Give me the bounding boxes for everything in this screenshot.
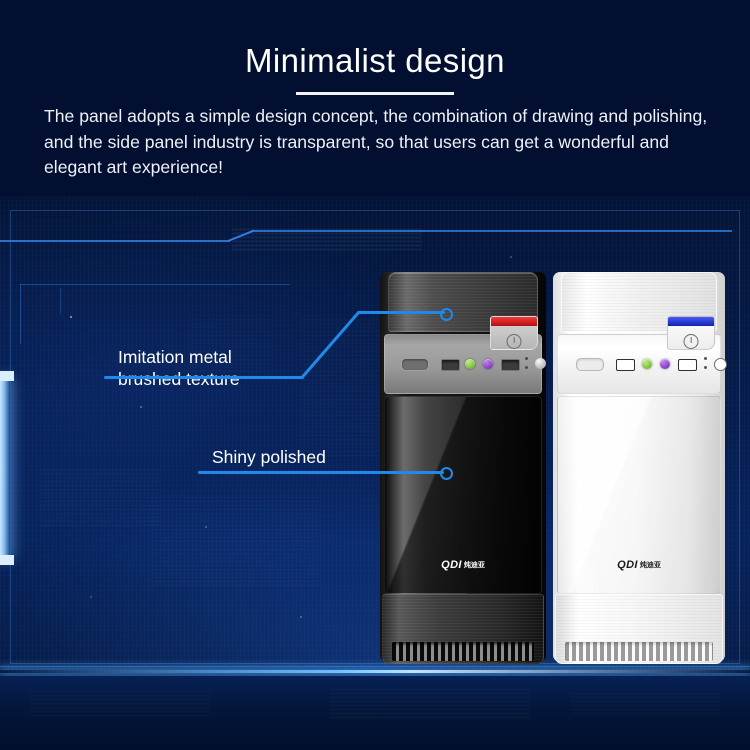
- callout-label-shiny-polished: Shiny polished: [212, 446, 326, 468]
- micro-text-block: [570, 690, 720, 714]
- page-title: Minimalist design: [0, 42, 750, 80]
- callout-marker-shiny-polished: [440, 467, 453, 480]
- card-slot-icon: [401, 358, 429, 371]
- power-button[interactable]: [667, 316, 715, 350]
- panel-bottom-glow: [0, 670, 750, 673]
- power-icon: [684, 334, 699, 349]
- indicator-dot-icon: [525, 366, 528, 369]
- hud-left-bracket: [0, 378, 11, 558]
- title-underline: [296, 92, 454, 95]
- brand-logo: QDI炖迪亚: [558, 559, 720, 571]
- brand-subtext: 炖迪亚: [640, 562, 661, 569]
- product-black-case[interactable]: QDI炖迪亚: [380, 272, 546, 662]
- callout-pointer-brushed-texture: [357, 311, 445, 314]
- accent-stripe: [668, 317, 714, 326]
- glossy-front-panel: QDI炖迪亚: [557, 396, 721, 594]
- card-slot-icon: [576, 358, 604, 371]
- case-base-vent: [555, 594, 723, 664]
- micro-text-block: [30, 690, 210, 716]
- brand-logo: QDI炖迪亚: [385, 559, 541, 571]
- hud-line-thin: [20, 284, 230, 285]
- usb-port-icon: [501, 359, 520, 371]
- header-section: Minimalist design The panel adopts a sim…: [0, 0, 750, 196]
- case-base-vent: [382, 594, 544, 664]
- hud-line-thin: [60, 288, 61, 314]
- audio-jack-purple-icon: [483, 359, 493, 369]
- usb-port-icon: [441, 359, 460, 371]
- accent-stripe: [491, 317, 537, 326]
- power-icon: [507, 334, 522, 349]
- brand-name: QDI: [617, 559, 638, 571]
- hud-line-thin: [20, 284, 21, 344]
- indicator-dot-icon: [704, 357, 707, 360]
- product-white-case[interactable]: QDI炖迪亚: [553, 272, 725, 662]
- glossy-front-panel: QDI炖迪亚: [384, 396, 542, 594]
- ventilation-grille: [392, 642, 534, 661]
- ventilation-grille: [565, 642, 713, 661]
- brand-name: QDI: [441, 559, 462, 571]
- usb-port-icon: [678, 359, 697, 371]
- indicator-dot-icon: [704, 366, 707, 369]
- callout-underline-shiny-polished: [198, 471, 444, 474]
- header-description: The panel adopts a simple design concept…: [44, 104, 716, 181]
- hud-line-thin: [230, 284, 290, 285]
- callout-marker-brushed-texture: [440, 308, 453, 321]
- micro-text-block: [330, 688, 530, 718]
- audio-jack-purple-icon: [660, 359, 670, 369]
- power-led-icon: [714, 358, 727, 371]
- hud-line-bottom: [0, 666, 750, 667]
- brand-subtext: 炖迪亚: [464, 562, 485, 569]
- hud-line-top: [0, 240, 230, 242]
- audio-jack-green-icon: [465, 359, 475, 369]
- power-button[interactable]: [490, 316, 538, 350]
- audio-jack-green-icon: [642, 359, 652, 369]
- usb-port-icon: [616, 359, 635, 371]
- callout-underline-brushed-texture: [104, 376, 304, 379]
- callout-label-brushed-texture: Imitation metal brushed texture: [118, 346, 240, 390]
- indicator-dot-icon: [525, 357, 528, 360]
- tech-background-panel: QDI炖迪亚: [0, 196, 750, 676]
- power-led-icon: [535, 358, 546, 369]
- hud-line-top-right: [252, 230, 732, 232]
- product-feature-banner: Minimalist design The panel adopts a sim…: [0, 0, 750, 750]
